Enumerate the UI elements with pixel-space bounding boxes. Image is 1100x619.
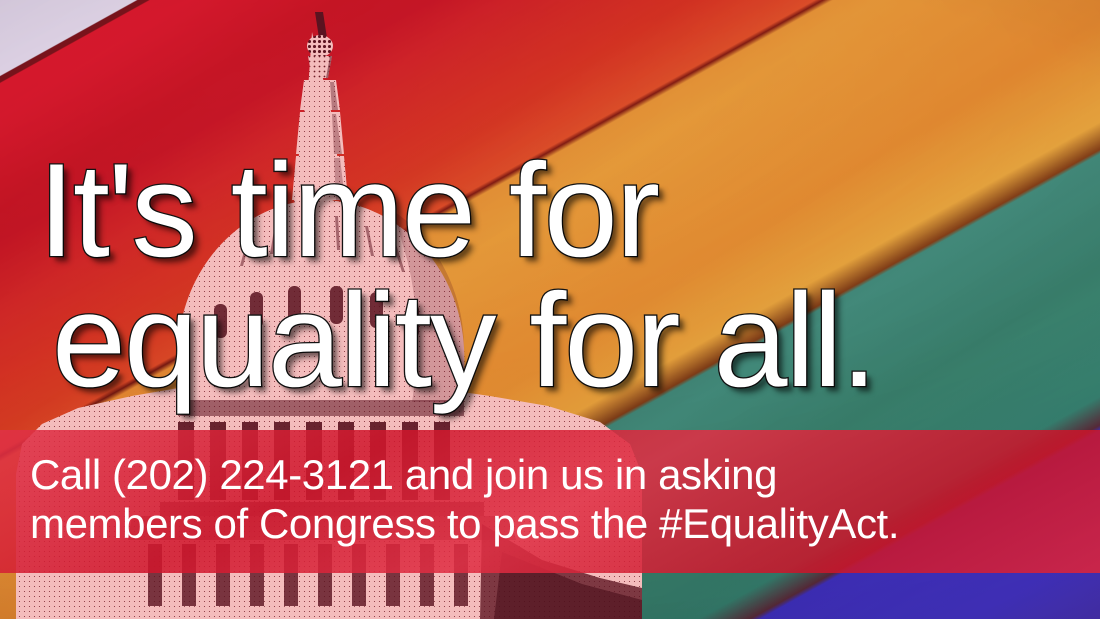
poster-canvas: It's time for equality for all. Call (20… (0, 0, 1100, 619)
headline: It's time for equality for all. (38, 147, 1084, 406)
cta-banner: Call (202) 224-3121 and join us in askin… (0, 430, 1100, 573)
cta-line-1: Call (202) 224-3121 and join us in askin… (30, 451, 1100, 500)
headline-line-2: equality for all. (52, 277, 1084, 407)
cta-text: Call (202) 224-3121 and join us in askin… (0, 430, 1100, 548)
headline-line-1: It's time for (38, 147, 1084, 277)
cta-line-2: members of Congress to pass the #Equalit… (30, 500, 1100, 549)
